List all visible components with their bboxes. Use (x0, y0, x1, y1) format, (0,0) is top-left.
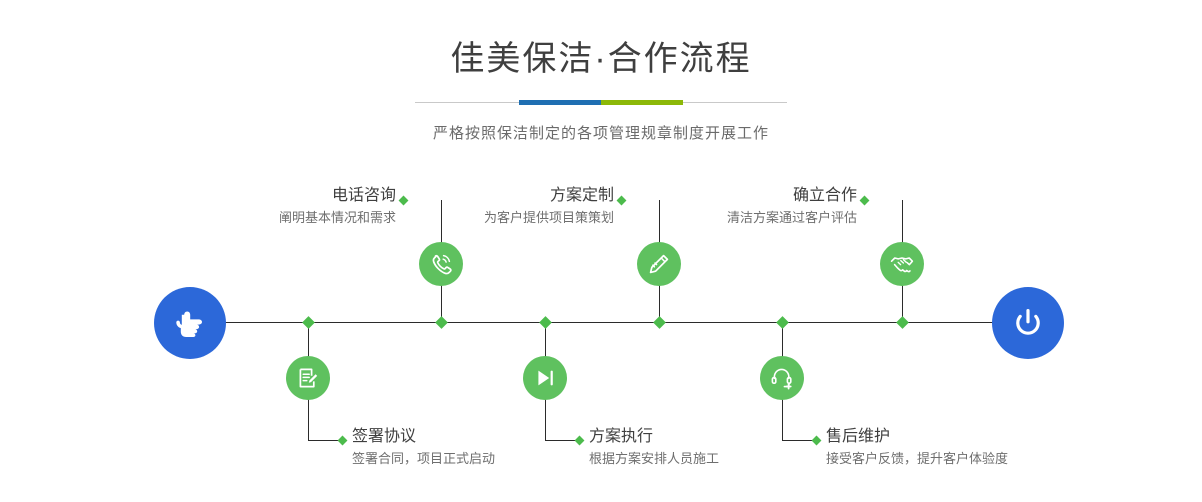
step-1-title: 电话咨询 (150, 186, 396, 206)
pencil-icon (646, 251, 672, 277)
step-3-desc: 为客户提供项目策策划 (380, 208, 614, 228)
step-5-label: 确立合作 清洁方案通过客户评估 (620, 186, 857, 228)
step-6-label: 售后维护 接受客户反馈，提升客户体验度 (826, 427, 1008, 469)
step-2-axis-marker (302, 316, 315, 329)
step-5-label-marker (860, 196, 870, 206)
customer-service-add-icon (769, 365, 795, 391)
step-1-axis-marker (435, 316, 448, 329)
timeline-start-endpoint[interactable] (154, 287, 226, 359)
step-4-label: 方案执行 根据方案安排人员施工 (589, 427, 719, 469)
step-5-axis-marker (896, 316, 909, 329)
step-1-node[interactable] (419, 242, 463, 286)
step-3-node[interactable] (637, 242, 681, 286)
handshake-icon (889, 251, 915, 277)
step-6-desc: 接受客户反馈，提升客户体验度 (826, 449, 1008, 469)
step-3-title: 方案定制 (380, 186, 614, 206)
step-1-desc: 阐明基本情况和需求 (150, 208, 396, 228)
step-4-label-marker (575, 436, 585, 446)
step-4-desc: 根据方案安排人员施工 (589, 449, 719, 469)
pointing-hand-icon (171, 304, 209, 342)
process-flow-page: 佳美保洁·合作流程 严格按照保洁制定的各项管理规章制度开展工作 (0, 0, 1202, 502)
step-5-node[interactable] (880, 242, 924, 286)
phone-call-icon (428, 251, 454, 277)
play-execute-icon (532, 365, 558, 391)
timeline-end-endpoint[interactable] (992, 287, 1064, 359)
step-5-title: 确立合作 (620, 186, 857, 206)
step-2-node[interactable] (286, 356, 330, 400)
step-4-title: 方案执行 (589, 427, 719, 447)
step-6-label-marker (812, 436, 822, 446)
step-3-label: 方案定制 为客户提供项目策策划 (380, 186, 614, 228)
document-edit-icon (295, 365, 321, 391)
step-5-desc: 清洁方案通过客户评估 (620, 208, 857, 228)
step-2-label: 签署协议 签署合同，项目正式启动 (352, 427, 495, 469)
step-6-title: 售后维护 (826, 427, 1008, 447)
step-6-axis-marker (776, 316, 789, 329)
step-2-title: 签署协议 (352, 427, 495, 447)
step-4-axis-marker (539, 316, 552, 329)
timeline: 电话咨询 阐明基本情况和需求 签署协议 签署合同，项目正式启动 (0, 0, 1202, 502)
power-icon (1009, 304, 1047, 342)
step-4-node[interactable] (523, 356, 567, 400)
step-2-desc: 签署合同，项目正式启动 (352, 449, 495, 469)
step-2-label-marker (338, 436, 348, 446)
step-6-node[interactable] (760, 356, 804, 400)
step-1-label: 电话咨询 阐明基本情况和需求 (150, 186, 396, 228)
step-3-axis-marker (653, 316, 666, 329)
